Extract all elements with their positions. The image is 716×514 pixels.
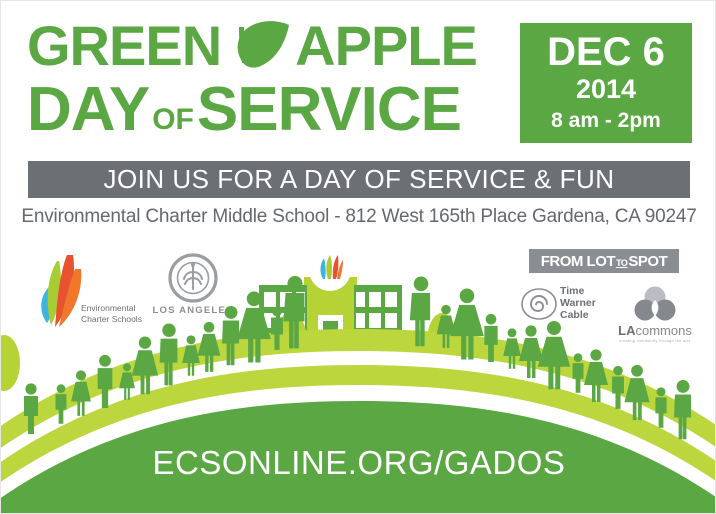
join-us-banner: JOIN US FOR A DAY OF SERVICE & FUN bbox=[28, 161, 690, 198]
headline-word-service: SERVICE bbox=[197, 79, 461, 141]
date-time: 8 am - 2pm bbox=[551, 108, 661, 133]
venue-address: Environmental Charter Middle School - 81… bbox=[1, 206, 716, 228]
headline-line-1: GREEN APPLE bbox=[27, 15, 527, 77]
headline-word-green: GREEN bbox=[27, 18, 221, 74]
headline: GREEN APPLE DAY OF SERVICE bbox=[27, 15, 527, 145]
date-year: 2014 bbox=[576, 74, 636, 105]
headline-word-apple: APPLE bbox=[295, 18, 477, 74]
headline-line-2: DAY OF SERVICE bbox=[27, 79, 527, 141]
headline-word-day: DAY bbox=[27, 79, 149, 141]
headline-word-of: OF bbox=[149, 105, 197, 141]
leaf-icon bbox=[221, 18, 295, 74]
poster-flyer: GREEN APPLE DAY OF SERVICE DEC 6 2014 8 … bbox=[0, 0, 716, 514]
date-day: DEC 6 bbox=[547, 32, 665, 72]
date-box: DEC 6 2014 8 am - 2pm bbox=[520, 23, 692, 143]
website-url[interactable]: ECSONLINE.ORG/GADOS bbox=[1, 444, 716, 482]
